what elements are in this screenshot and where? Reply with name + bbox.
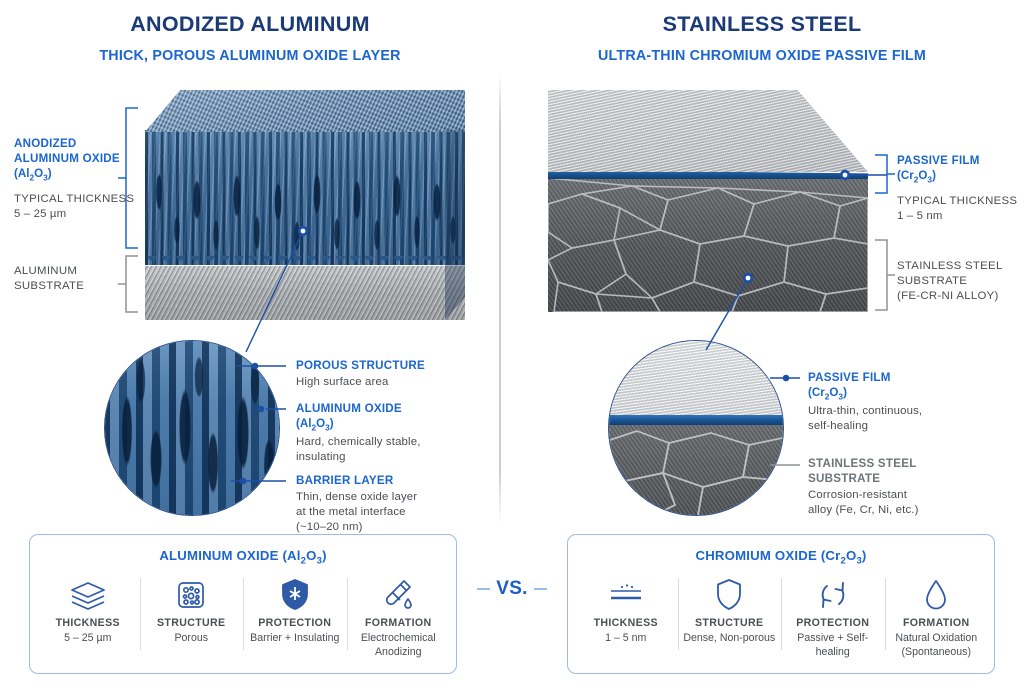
oxide-layer-label: ANODIZED ALUMINUM OXIDE (Al2O3) TYPICAL … <box>14 136 134 222</box>
left-card-title: ALUMINUM OXIDE (Al2O3) <box>30 548 456 567</box>
oxide-thickness-value: 5 – 25 µm <box>14 207 134 222</box>
left-card-value-structure: Porous <box>144 632 240 646</box>
thin-lines-icon <box>578 576 674 614</box>
right-card-col-structure: STRUCTURE Dense, Non-porous <box>678 576 782 660</box>
steel-substrate-line1: STAINLESS STEEL <box>897 259 1003 274</box>
left-card-value-formation: Electrochemical Anodizing <box>351 632 447 660</box>
callout-dot-passive-film <box>783 375 790 382</box>
right-card-value-formation: Natural Oxidation (Spontaneous) <box>889 632 985 660</box>
passive-film-label-line1: PASSIVE FILM <box>897 153 1017 168</box>
right-panel-title: STAINLESS STEEL <box>512 12 1012 37</box>
left-card-key-formation: FORMATION <box>351 617 447 629</box>
left-card-columns: THICKNESS 5 – 25 µm STRUCTURE Porous <box>30 576 456 660</box>
right-card-value-structure: Dense, Non-porous <box>682 632 778 646</box>
detail-steel-substrate <box>608 425 784 516</box>
left-card-col-thickness: THICKNESS 5 – 25 µm <box>36 576 140 660</box>
aluminum-substrate-line1: ALUMINUM <box>14 264 84 279</box>
right-card-key-structure: STRUCTURE <box>682 617 778 629</box>
water-drop-icon <box>889 576 985 614</box>
aluminum-substrate-bracket <box>118 256 138 312</box>
right-card-title: CHROMIUM OXIDE (Cr2O3) <box>568 548 994 567</box>
aluminum-oxide-summary-card: ALUMINUM OXIDE (Al2O3) THICKNESS 5 – 25 … <box>29 534 457 674</box>
steel-substrate-line2: SUBSTRATE <box>897 274 1003 289</box>
steel-substrate-body <box>548 178 868 312</box>
callout-passive-film: PASSIVE FILM (Cr2O3) Ultra-thin, continu… <box>808 370 922 434</box>
callout-ss-sub-line1: Corrosion-resistant <box>808 488 919 503</box>
left-card-key-thickness: THICKNESS <box>40 617 136 629</box>
passive-film-thickness-value: 1 – 5 nm <box>897 209 1017 224</box>
detail-pore-columns <box>104 340 280 516</box>
left-card-col-protection: PROTECTION Barrier + Insulating <box>243 576 347 660</box>
oxide-label-line2: ALUMINUM OXIDE <box>14 151 134 166</box>
right-card-columns: THICKNESS 1 – 5 nm STRUCTURE Dense, Non-… <box>568 576 994 660</box>
left-card-key-protection: PROTECTION <box>247 617 343 629</box>
callout-barrier-line3: (~10–20 nm) <box>296 520 417 535</box>
layers-stack-icon <box>40 576 136 614</box>
callout-porous-heading: POROUS STRUCTURE <box>296 358 425 373</box>
callout-alox-line1: Hard, chemically stable, <box>296 435 421 450</box>
oxide-top-face <box>145 90 465 132</box>
grain-boundary-texture <box>548 178 868 312</box>
left-card-key-structure: STRUCTURE <box>144 617 240 629</box>
right-card-key-formation: FORMATION <box>889 617 985 629</box>
callout-ss-sub-line2: alloy (Fe, Cr, Ni, etc.) <box>808 503 919 518</box>
oxide-pores-texture <box>145 130 465 265</box>
left-panel-title: ANODIZED ALUMINUM <box>0 12 500 37</box>
left-card-col-structure: STRUCTURE Porous <box>140 576 244 660</box>
barrier-layer-interface <box>145 256 465 270</box>
vs-dash-right <box>534 588 547 590</box>
right-panel-subtitle: ULTRA-THIN CHROMIUM OXIDE PASSIVE FILM <box>512 48 1012 64</box>
aluminum-substrate-label: ALUMINUM SUBSTRATE <box>14 264 84 294</box>
steel-substrate-line3: (Fe-Cr-Ni ALLOY) <box>897 289 1003 304</box>
left-card-value-thickness: 5 – 25 µm <box>40 632 136 646</box>
callout-passive-line2: self-healing <box>808 419 922 434</box>
vs-label: VS. <box>496 578 528 600</box>
detail-steel-top <box>608 340 784 417</box>
left-card-value-protection: Barrier + Insulating <box>247 632 343 646</box>
callout-ss-sub-heading2: SUBSTRATE <box>808 471 919 486</box>
callout-alox-line2: insulating <box>296 450 421 465</box>
steel-substrate-bracket <box>875 240 895 310</box>
aluminum-substrate-body <box>145 266 465 320</box>
right-card-col-protection: PROTECTION Passive + Self-healing <box>781 576 885 660</box>
callout-passive-formula: (Cr2O3) <box>808 385 922 402</box>
steel-detail-circle <box>608 340 784 516</box>
oxide-thickness-caption: TYPICAL THICKNESS <box>14 192 134 207</box>
passive-film-label-formula: (Cr2O3) <box>897 168 1017 185</box>
test-tube-icon <box>351 576 447 614</box>
passive-film-thickness-caption: TYPICAL THICKNESS <box>897 194 1017 209</box>
oxide-label-line1: ANODIZED <box>14 136 134 151</box>
callout-steel-substrate: STAINLESS STEEL SUBSTRATE Corrosion-resi… <box>808 456 919 518</box>
right-card-value-thickness: 1 – 5 nm <box>578 632 674 646</box>
callout-barrier-line2: at the metal interface <box>296 505 417 520</box>
shield-spark-icon <box>247 576 343 614</box>
passive-film-label: PASSIVE FILM (Cr2O3) TYPICAL THICKNESS 1… <box>897 153 1017 224</box>
right-card-key-protection: PROTECTION <box>785 617 881 629</box>
callout-alox-formula: (Al2O3) <box>296 416 421 433</box>
callout-passive-heading: PASSIVE FILM <box>808 370 922 385</box>
callout-porous-line1: High surface area <box>296 375 425 390</box>
stainless-steel-block <box>548 90 868 312</box>
shield-icon <box>682 576 778 614</box>
steel-substrate-label: STAINLESS STEEL SUBSTRATE (Fe-Cr-Ni ALLO… <box>897 259 1003 303</box>
diagram-canvas: ANODIZED ALUMINUM THICK, POROUS ALUMINUM… <box>0 0 1024 683</box>
callout-aluminum-oxide: ALUMINUM OXIDE (Al2O3) Hard, chemically … <box>296 401 421 465</box>
callout-ss-sub-heading: STAINLESS STEEL <box>808 456 919 471</box>
chromium-oxide-summary-card: CHROMIUM OXIDE (Cr2O3) THICKNESS 1 – 5 n… <box>567 534 995 674</box>
right-card-col-thickness: THICKNESS 1 – 5 nm <box>574 576 678 660</box>
callout-barrier-heading: BARRIER LAYER <box>296 473 417 488</box>
anodized-aluminum-block <box>145 90 465 320</box>
passive-film-bracket <box>875 155 895 193</box>
left-panel-subtitle: THICK, POROUS ALUMINUM OXIDE LAYER <box>0 48 500 64</box>
aluminum-detail-circle <box>104 340 280 516</box>
refresh-cycle-icon <box>785 576 881 614</box>
callout-porous-structure: POROUS STRUCTURE High surface area <box>296 358 425 390</box>
callout-barrier-line1: Thin, dense oxide layer <box>296 490 417 505</box>
vs-dash-left <box>477 588 490 590</box>
porous-grid-icon <box>144 576 240 614</box>
oxide-label-formula: (Al2O3) <box>14 166 134 183</box>
right-card-col-formation: FORMATION Natural Oxidation (Spontaneous… <box>885 576 989 660</box>
aluminum-substrate-line2: SUBSTRATE <box>14 279 84 294</box>
panel-divider <box>499 72 501 524</box>
detail-passive-film <box>608 415 784 425</box>
callout-alox-heading: ALUMINUM OXIDE <box>296 401 421 416</box>
right-card-key-thickness: THICKNESS <box>578 617 674 629</box>
steel-top-face <box>548 90 868 172</box>
right-card-value-protection: Passive + Self-healing <box>785 632 881 660</box>
callout-barrier-layer: BARRIER LAYER Thin, dense oxide layer at… <box>296 473 417 535</box>
left-card-col-formation: FORMATION Electrochemical Anodizing <box>347 576 451 660</box>
vs-divider: VS. <box>457 578 567 600</box>
callout-passive-line1: Ultra-thin, continuous, <box>808 404 922 419</box>
